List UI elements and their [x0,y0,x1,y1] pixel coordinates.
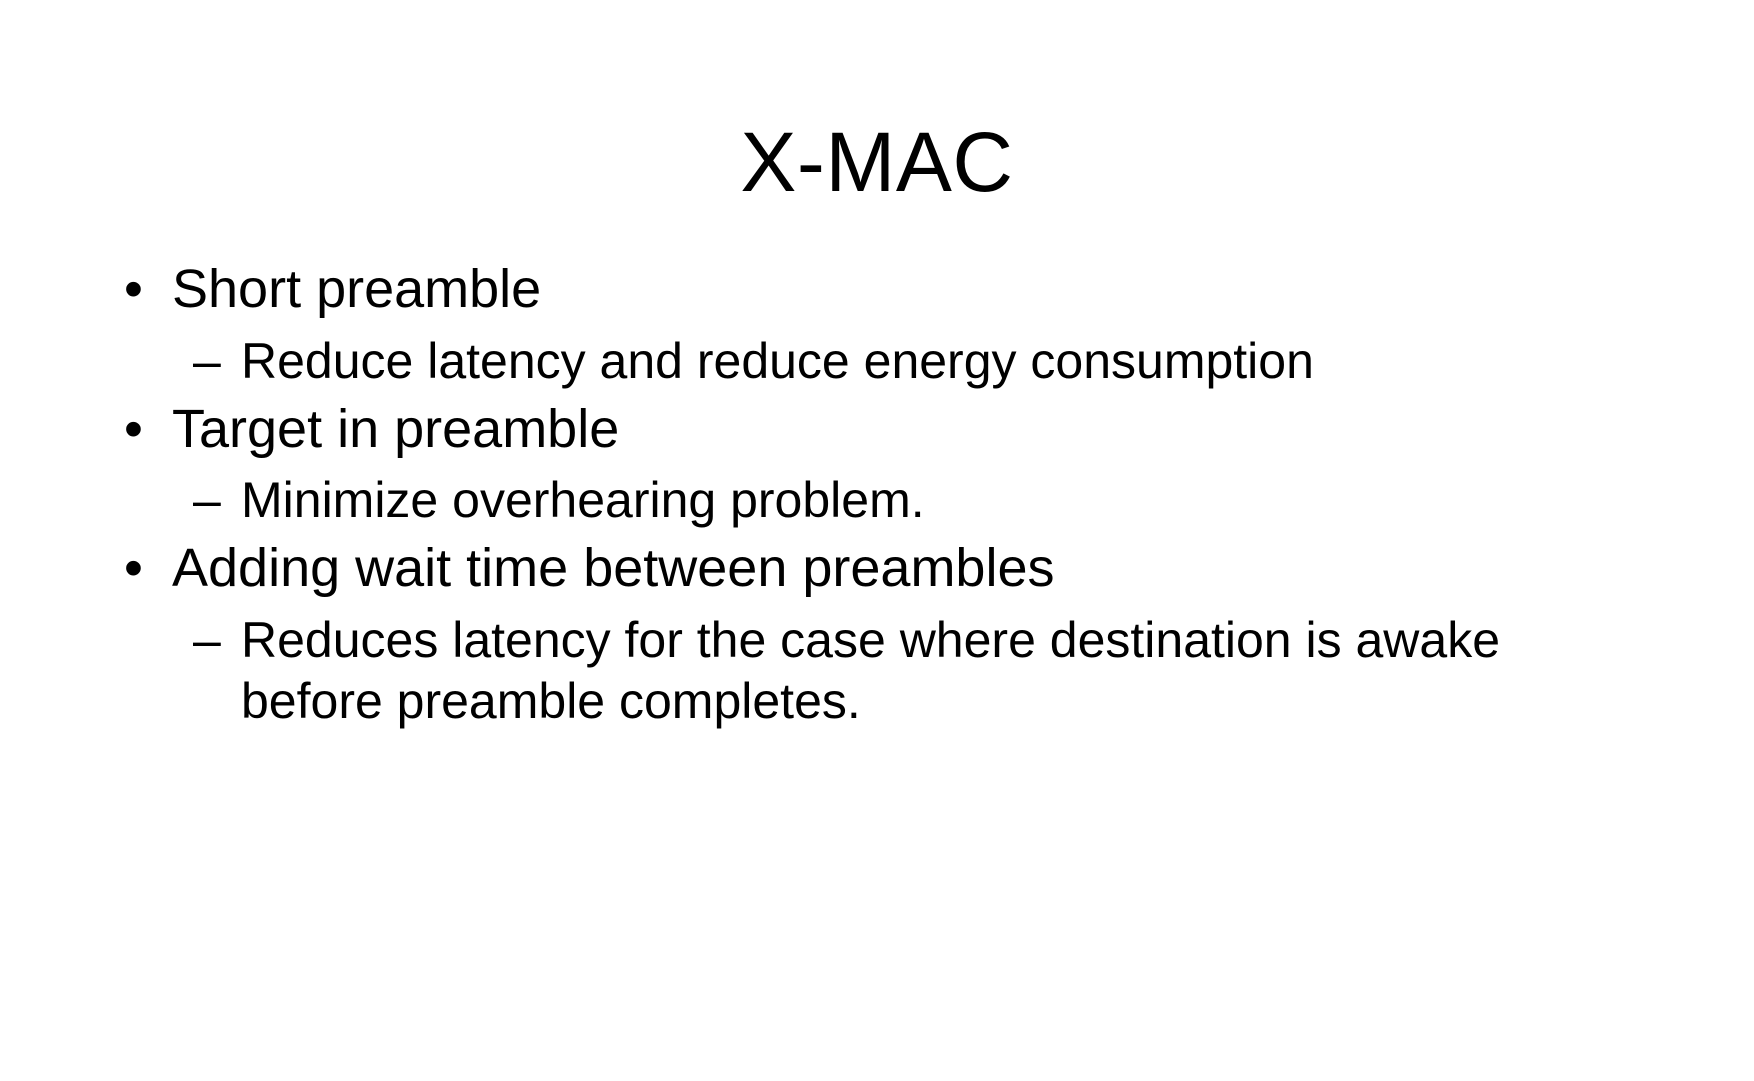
page-title: X-MAC [0,118,1754,206]
list-item: • Adding wait time between preambles [118,537,1678,600]
list-item: • Target in preamble [118,398,1678,461]
list-item: – Minimize overhearing problem. [118,470,1678,531]
dash-bullet-marker-icon: – [193,610,241,670]
bullet-marker-icon: • [118,258,172,321]
list-item-text: Short preamble [172,258,541,321]
list-item-text: Target in preamble [172,398,619,461]
list-item: – Reduces latency for the case where des… [118,610,1678,732]
slide: X-MAC • Short preamble – Reduce latency … [0,0,1754,1081]
list-item-text: Minimize overhearing problem. [241,470,925,531]
bullet-marker-icon: • [118,537,172,600]
list-item-text: Reduce latency and reduce energy consump… [241,331,1314,392]
list-item-text: Adding wait time between preambles [172,537,1054,600]
bullet-marker-icon: • [118,398,172,461]
slide-body: • Short preamble – Reduce latency and re… [118,252,1678,738]
dash-bullet-marker-icon: – [193,331,241,391]
dash-bullet-marker-icon: – [193,470,241,530]
list-item-text: Reduces latency for the case where desti… [241,610,1541,732]
list-item: • Short preamble [118,258,1678,321]
list-item: – Reduce latency and reduce energy consu… [118,331,1678,392]
